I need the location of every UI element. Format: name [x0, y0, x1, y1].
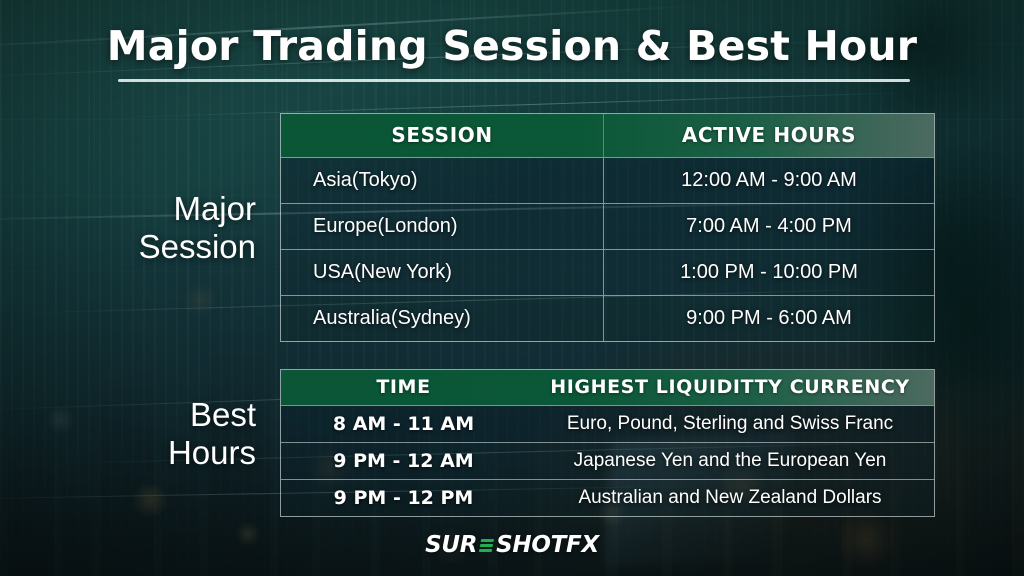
- column-header-active-hours: ACTIVE HOURS: [604, 114, 934, 157]
- cell-time: 9 PM - 12 AM: [281, 443, 526, 479]
- logo-text-part2: SHOTFX: [496, 532, 599, 558]
- table-row[interactable]: Asia(Tokyo) 12:00 AM - 9:00 AM: [281, 157, 934, 203]
- page-title: Major Trading Session & Best Hour: [0, 22, 1024, 70]
- brand-logo: SUR SHOTFX: [0, 532, 1024, 558]
- table-row[interactable]: 9 PM - 12 AM Japanese Yen and the Europe…: [281, 442, 934, 479]
- column-header-session: SESSION: [281, 114, 604, 157]
- section-label-major-session-line1: Major: [40, 190, 256, 228]
- title-underline: [118, 79, 910, 82]
- section-label-major-session: Major Session: [40, 190, 256, 266]
- section-label-best-hours: Best Hours: [40, 396, 256, 472]
- best-hours-table: TIME HIGHEST LIQUIDITTY CURRENCY 8 AM - …: [280, 369, 935, 517]
- table-row[interactable]: USA(New York) 1:00 PM - 10:00 PM: [281, 249, 934, 295]
- cell-session: USA(New York): [281, 250, 604, 295]
- cell-time: 9 PM - 12 PM: [281, 480, 526, 516]
- column-header-currency: HIGHEST LIQUIDITTY CURRENCY: [526, 370, 934, 405]
- table-row[interactable]: 8 AM - 11 AM Euro, Pound, Sterling and S…: [281, 405, 934, 442]
- column-header-time: TIME: [281, 370, 526, 405]
- cell-currency: Australian and New Zealand Dollars: [526, 480, 934, 516]
- section-label-major-session-line2: Session: [40, 228, 256, 266]
- cell-active-hours: 12:00 AM - 9:00 AM: [604, 158, 934, 203]
- cell-session: Australia(Sydney): [281, 296, 604, 341]
- cell-active-hours: 1:00 PM - 10:00 PM: [604, 250, 934, 295]
- logo-text-part1: SUR: [425, 532, 477, 558]
- table-row[interactable]: Australia(Sydney) 9:00 PM - 6:00 AM: [281, 295, 934, 341]
- table-row[interactable]: 9 PM - 12 PM Australian and New Zealand …: [281, 479, 934, 516]
- major-session-table: SESSION ACTIVE HOURS Asia(Tokyo) 12:00 A…: [280, 113, 935, 342]
- infographic-canvas: Major Trading Session & Best Hour Major …: [0, 0, 1024, 576]
- cell-currency: Euro, Pound, Sterling and Swiss Franc: [526, 406, 934, 442]
- section-label-best-hours-line2: Hours: [40, 434, 256, 472]
- cell-session: Asia(Tokyo): [281, 158, 604, 203]
- cell-session: Europe(London): [281, 204, 604, 249]
- section-label-best-hours-line1: Best: [40, 396, 256, 434]
- table-row[interactable]: Europe(London) 7:00 AM - 4:00 PM: [281, 203, 934, 249]
- cell-active-hours: 7:00 AM - 4:00 PM: [604, 204, 934, 249]
- triple-bar-icon: [479, 536, 495, 554]
- cell-currency: Japanese Yen and the European Yen: [526, 443, 934, 479]
- major-session-table-header-row: SESSION ACTIVE HOURS: [281, 114, 934, 157]
- cell-active-hours: 9:00 PM - 6:00 AM: [604, 296, 934, 341]
- cell-time: 8 AM - 11 AM: [281, 406, 526, 442]
- best-hours-table-header-row: TIME HIGHEST LIQUIDITTY CURRENCY: [281, 370, 934, 405]
